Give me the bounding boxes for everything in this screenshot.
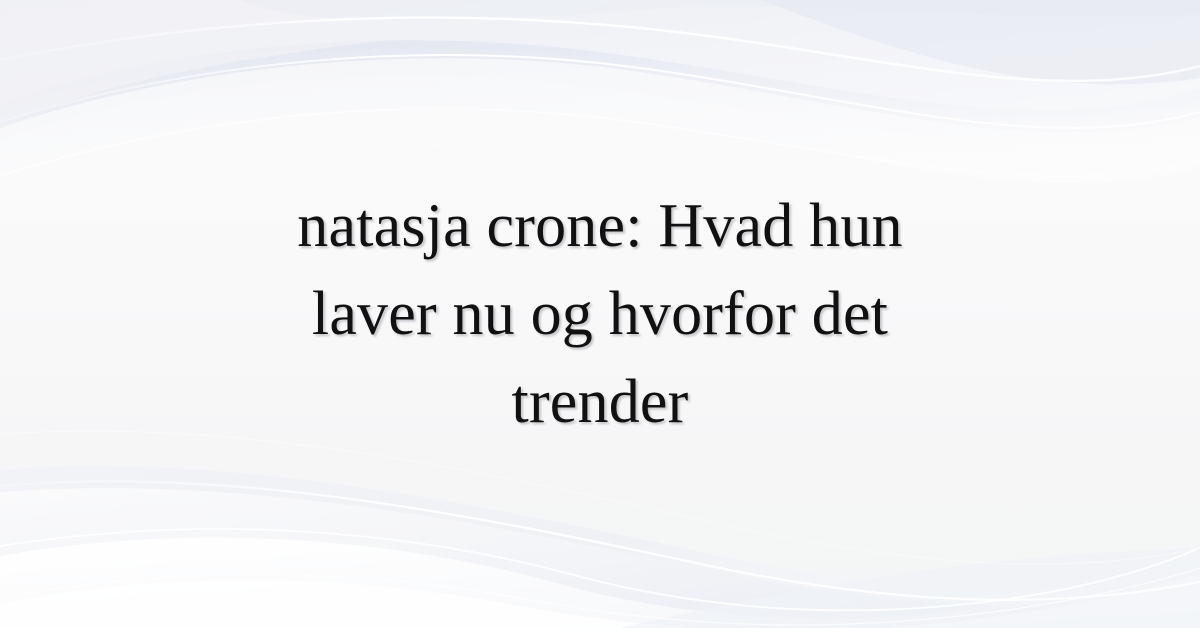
headline-line-2: laver nu og hvorfor det	[100, 270, 1100, 358]
social-card: natasja crone: Hvad hun laver nu og hvor…	[0, 0, 1200, 628]
headline-block: natasja crone: Hvad hun laver nu og hvor…	[0, 0, 1200, 628]
headline-line-3: trender	[100, 358, 1100, 446]
headline-line-1: natasja crone: Hvad hun	[100, 182, 1100, 270]
